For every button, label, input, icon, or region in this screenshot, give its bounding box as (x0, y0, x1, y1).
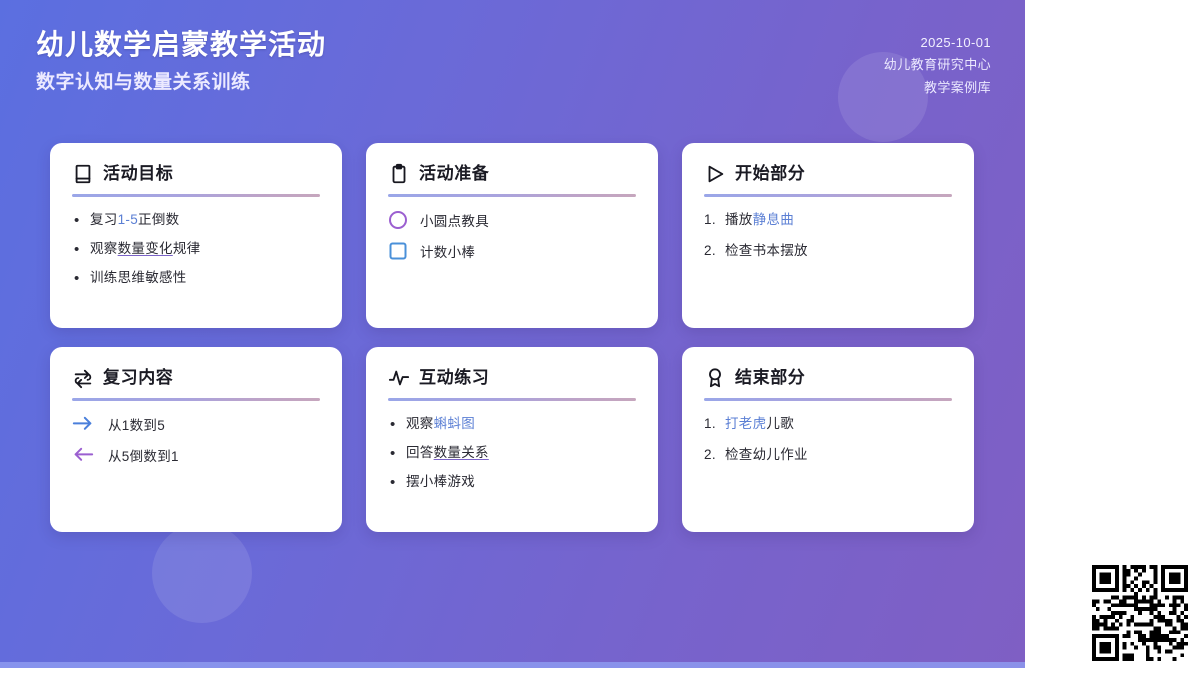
item-text-pre: 训练思维敏感性 (90, 270, 187, 285)
item-text-pre: 观察 (406, 416, 434, 431)
header-organization: 幼儿教育研究中心 (884, 54, 991, 76)
slide-canvas: 幼儿数学启蒙教学活动 数字认知与数量关系训练 2025-10-01 幼儿教育研究… (0, 0, 1025, 668)
list-item[interactable]: 检查幼儿作业 (704, 445, 952, 466)
card-activity-preparation[interactable]: 活动准备 小圆点教具 计数小棒 (366, 143, 658, 328)
list-item[interactable]: 从1数到5 (72, 414, 320, 434)
play-icon (704, 163, 726, 185)
item-text-post: 正倒数 (138, 212, 179, 227)
card-divider (388, 398, 636, 401)
practice-list: 观察蝌蚪图 回答数量关系 摆小棒游戏 (388, 414, 636, 493)
card-title: 活动准备 (419, 164, 489, 184)
item-label: 从5倒数到1 (108, 445, 179, 465)
item-highlight: 蝌蚪图 (434, 416, 475, 431)
card-activity-goals[interactable]: 活动目标 复习1-5正倒数 观察数量变化规律 训练思维敏感性 (50, 143, 342, 328)
item-label: 计数小棒 (420, 241, 475, 261)
preparation-list: 小圆点教具 计数小棒 (388, 210, 636, 261)
list-item[interactable]: 复习1-5正倒数 (72, 210, 320, 231)
card-divider (704, 194, 952, 197)
item-text-pre: 检查书本摆放 (725, 243, 808, 258)
list-item[interactable]: 从5倒数到1 (72, 445, 320, 465)
card-title: 活动目标 (103, 164, 173, 184)
item-text-pre: 观察 (90, 241, 118, 256)
activity-pulse-icon (388, 367, 410, 389)
arrow-right-icon (72, 416, 94, 432)
list-item[interactable]: 观察蝌蚪图 (388, 414, 636, 435)
item-highlight: 1-5 (118, 212, 138, 227)
header-date: 2025-10-01 (884, 32, 991, 54)
item-text-pre: 复习 (90, 212, 118, 227)
decorative-circle-bottom (152, 523, 252, 623)
card-header: 活动目标 (72, 163, 320, 194)
qr-code[interactable] (1092, 565, 1188, 661)
list-item[interactable]: 回答数量关系 (388, 443, 636, 464)
goal-list: 复习1-5正倒数 观察数量变化规律 训练思维敏感性 (72, 210, 320, 289)
item-highlight: 打老虎 (725, 416, 766, 431)
item-label: 小圆点教具 (420, 210, 489, 230)
card-opening-section[interactable]: 开始部分 播放静息曲 检查书本摆放 (682, 143, 974, 328)
card-divider (704, 398, 952, 401)
list-item[interactable]: 打老虎儿歌 (704, 414, 952, 435)
card-divider (72, 398, 320, 401)
book-icon (72, 163, 94, 185)
card-title: 结束部分 (735, 368, 805, 388)
card-header: 活动准备 (388, 163, 636, 194)
item-text-pre: 回答 (406, 445, 434, 460)
card-grid: 活动目标 复习1-5正倒数 观察数量变化规律 训练思维敏感性 活动准备 (50, 143, 975, 532)
square-marker-icon (388, 241, 408, 261)
slide-header: 幼儿数学启蒙教学活动 数字认知与数量关系训练 2025-10-01 幼儿教育研究… (0, 0, 1025, 130)
card-closing-section[interactable]: 结束部分 打老虎儿歌 检查幼儿作业 (682, 347, 974, 532)
title-block: 幼儿数学启蒙教学活动 数字认知与数量关系训练 (36, 26, 326, 96)
card-title: 开始部分 (735, 164, 805, 184)
refresh-icon (72, 367, 94, 389)
header-library: 教学案例库 (884, 77, 991, 99)
arrow-left-icon (72, 447, 94, 463)
header-meta: 2025-10-01 幼儿教育研究中心 教学案例库 (884, 26, 991, 99)
item-text-post: 儿歌 (766, 416, 794, 431)
item-text-pre: 播放 (725, 212, 753, 227)
list-item[interactable]: 观察数量变化规律 (72, 239, 320, 260)
clipboard-icon (388, 163, 410, 185)
list-item[interactable]: 小圆点教具 (388, 210, 636, 230)
card-header: 复习内容 (72, 367, 320, 398)
item-text-post: 规律 (173, 241, 201, 256)
list-item[interactable]: 播放静息曲 (704, 210, 952, 231)
item-highlight: 数量变化 (118, 241, 173, 256)
list-item[interactable]: 检查书本摆放 (704, 241, 952, 262)
list-item[interactable]: 计数小棒 (388, 241, 636, 261)
award-icon (704, 367, 726, 389)
item-highlight: 数量关系 (434, 445, 489, 460)
list-item[interactable]: 训练思维敏感性 (72, 268, 320, 289)
item-label: 从1数到5 (108, 414, 165, 434)
opening-step-list: 播放静息曲 检查书本摆放 (704, 210, 952, 262)
item-text-pre: 检查幼儿作业 (725, 447, 808, 462)
page-title: 幼儿数学启蒙教学活动 (36, 26, 326, 64)
card-interactive-practice[interactable]: 互动练习 观察蝌蚪图 回答数量关系 摆小棒游戏 (366, 347, 658, 532)
card-title: 互动练习 (419, 368, 489, 388)
item-highlight: 静息曲 (753, 212, 794, 227)
review-list: 从1数到5 从5倒数到1 (72, 414, 320, 465)
item-text-pre: 摆小棒游戏 (406, 474, 475, 489)
card-header: 互动练习 (388, 367, 636, 398)
qr-code-image (1092, 565, 1188, 661)
list-item[interactable]: 摆小棒游戏 (388, 472, 636, 493)
card-header: 开始部分 (704, 163, 952, 194)
card-divider (72, 194, 320, 197)
card-title: 复习内容 (103, 368, 173, 388)
card-review-content[interactable]: 复习内容 从1数到5 (50, 347, 342, 532)
card-divider (388, 194, 636, 197)
circle-marker-icon (388, 210, 408, 230)
card-header: 结束部分 (704, 367, 952, 398)
closing-step-list: 打老虎儿歌 检查幼儿作业 (704, 414, 952, 466)
page-subtitle: 数字认知与数量关系训练 (36, 70, 326, 97)
